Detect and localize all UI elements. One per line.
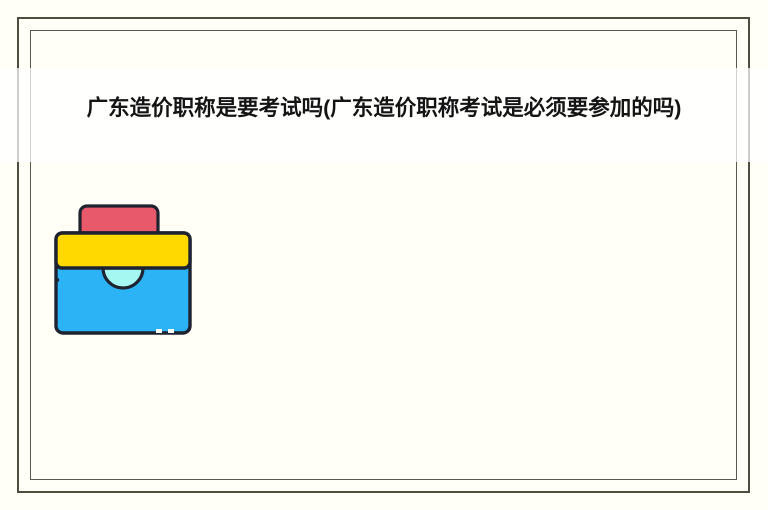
toolbox-side-dot [55, 278, 59, 282]
page-title: 广东造价职称是要考试吗(广东造价职称考试是必须要参加的吗) [58, 88, 710, 128]
toolbox-illustration [52, 203, 194, 337]
toolbox-bottom-notch-left [156, 329, 162, 333]
toolbox-bottom-notch-right [168, 329, 174, 333]
toolbox-lid-shape [56, 233, 190, 268]
